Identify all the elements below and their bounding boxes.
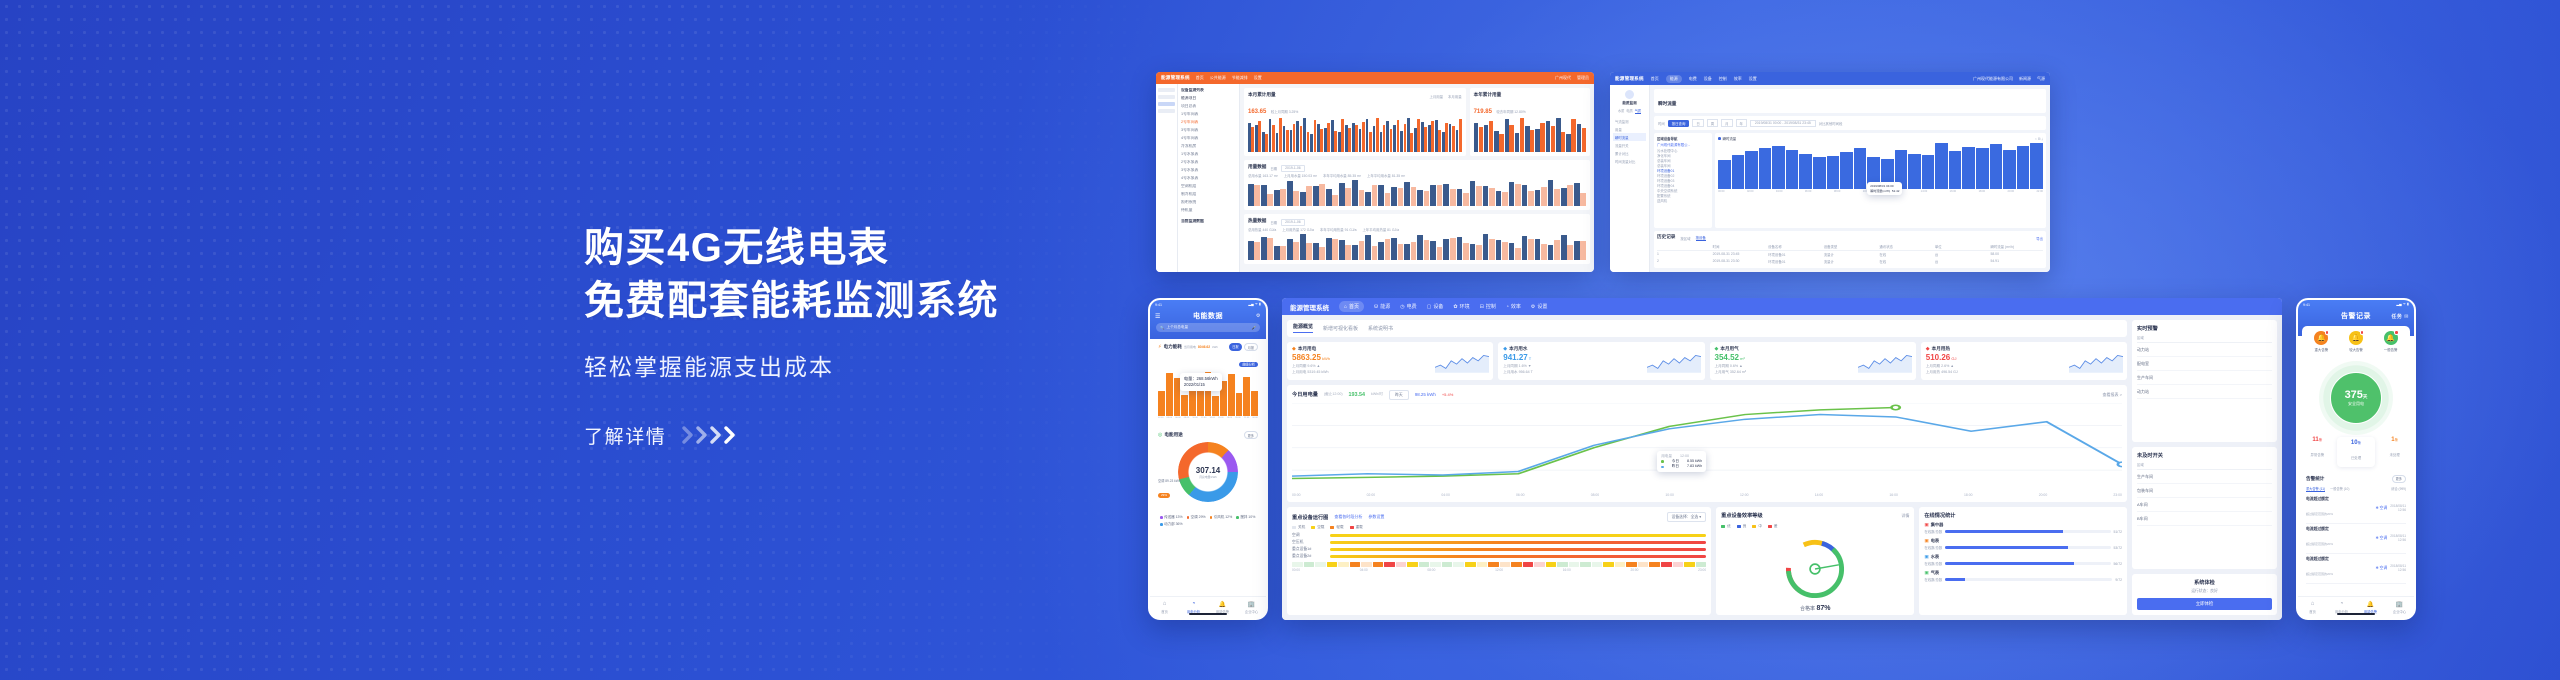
bar-secondary <box>1450 238 1456 260</box>
tab-0[interactable]: ⌂首页 <box>1150 597 1179 618</box>
panel-row-2[interactable]: A车间 <box>2137 498 2272 512</box>
promo-banner: 购买4G无线电表 免费配套能耗监测系统 轻松掌握能源支出成本 了解详情 能源管理… <box>0 0 2560 680</box>
alarm-row-2[interactable]: 电流超过额定超过额定范围的20%❄ 空调2018/08/1112:56 <box>2306 554 2406 584</box>
run-panel-title: 重点设备运行图 <box>1292 514 1328 521</box>
bar-secondary <box>1515 248 1521 260</box>
tree-item-list[interactable]: 项目总表1号车间表2号车间表3号车间表4号车间表冷冻机房1号水泵表2号水泵表3号… <box>1181 104 1236 213</box>
table-cell: 54.91 <box>1990 259 2043 264</box>
tablet-nav-fee-label: 电费 <box>1407 303 1417 310</box>
side-tab-water[interactable]: 水质 <box>1618 108 1624 114</box>
tab-3[interactable]: 🏢企业中心 <box>2385 597 2414 618</box>
nav-item-energy[interactable]: 能源 <box>1666 75 1682 83</box>
tree-item[interactable]: 冷冻机房 <box>1181 144 1236 149</box>
legend-label: 传送器 13% <box>1164 515 1182 520</box>
alarm-tab-general[interactable]: 一般告警 (10) <box>2330 486 2349 492</box>
tablet-right-column: 实时预警 区域 动力站配电室生产车间动力站 未及时开关 区域 生产车间包装车间A… <box>2132 315 2282 620</box>
tablet-main-column: 能源概览 新增可视化看板 系统说明书 ◆本月用电5863.25 kWh上月同期 … <box>1282 315 2132 620</box>
nav-item-home[interactable]: 首页 <box>1651 76 1659 82</box>
bar-group <box>1378 180 1390 206</box>
region-tree-node[interactable]: 送风机 <box>1657 198 1709 203</box>
timeline-segment <box>1292 562 1303 567</box>
tree-item[interactable]: 制冷机组 <box>1181 192 1236 197</box>
bar-group <box>1317 118 1323 152</box>
bar-hourly-energy <box>1158 391 1165 416</box>
tablet-nav-home[interactable]: ⌂首页 <box>1339 301 1364 312</box>
gauge-value: 87% <box>1816 605 1830 612</box>
rail-item[interactable] <box>1158 95 1175 99</box>
curve-analysis-button[interactable]: 曲线分析 <box>1239 362 1258 367</box>
alarm-row-0[interactable]: 电流超过额定超过额定范围的20%❄ 空调2018/08/1112:56 <box>2306 494 2406 524</box>
toolbar-btn-week[interactable]: 周 <box>1707 119 1718 127</box>
menu-item-home[interactable]: 首页 <box>1196 75 1204 81</box>
bar-primary <box>1404 182 1410 206</box>
alert-label-0: 重大告警 <box>2304 347 2339 352</box>
tree-item[interactable]: 照明系统 <box>1181 200 1236 205</box>
monthly-usage-chart <box>1248 118 1462 152</box>
panel-row-2[interactable]: 生产车间 <box>2137 371 2272 385</box>
timeline-segment <box>1569 562 1580 567</box>
bar-hourly-energy <box>1212 396 1219 416</box>
timeline-segment <box>1327 562 1338 567</box>
bar-group <box>1908 143 1921 189</box>
status-bar: 9:41 ▂▄ ᯤ ▮ <box>1150 300 1266 309</box>
bar-group <box>1393 118 1399 152</box>
bar-primary <box>1404 244 1410 260</box>
alert-type-2[interactable]: 🔔一般告警 <box>2373 331 2408 352</box>
bar-primary <box>1300 234 1306 260</box>
bar-secondary <box>1476 186 1482 206</box>
side-nav-item[interactable]: 用量 <box>1613 125 1646 133</box>
alert-type-0[interactable]: 🔔重大告警 <box>2304 331 2339 352</box>
bar-secondary <box>1345 188 1351 206</box>
alarm-more-button[interactable]: 更多 <box>2392 475 2406 483</box>
legend-swatch <box>1330 526 1334 529</box>
task-link[interactable]: 任务 ✉ <box>2391 313 2409 320</box>
alarm-stats-title: 告警统计 <box>2306 476 2324 482</box>
alarm-time-2: 2018/08/1112:56 <box>2390 564 2406 573</box>
panel-row-3[interactable]: 动力站 <box>2137 385 2272 399</box>
bar-this-month <box>1431 121 1434 152</box>
run-bar-1 <box>1330 541 1706 544</box>
axis-tick: 23:00 <box>1698 568 1706 572</box>
bar-this-month <box>1410 133 1413 152</box>
online-icon-0: ▣ <box>1924 522 1928 528</box>
bar-secondary <box>1528 239 1534 260</box>
bar-this-month <box>1376 118 1379 152</box>
bar-primary <box>1365 192 1371 206</box>
alert-label-2: 一般告警 <box>2373 347 2408 352</box>
bar-secondary <box>1554 240 1560 260</box>
bar-group <box>1248 234 1260 260</box>
side-tab-electric[interactable]: 电质 <box>1626 108 1632 114</box>
header-right-group: 广州现代 管理员 <box>1555 75 1589 81</box>
bar-last-month <box>1484 125 1488 152</box>
chevron-right-icon <box>682 426 737 444</box>
tree-item[interactable]: 4号水泵表 <box>1181 176 1236 181</box>
rail-item[interactable] <box>1158 88 1175 92</box>
side-nav-item[interactable]: 时间流量对比 <box>1613 157 1646 165</box>
task-label: 任务 <box>2391 314 2402 320</box>
toolbar-btn-month[interactable]: 月 <box>1721 119 1732 127</box>
online-track-3 <box>1945 578 2112 580</box>
toolbar-btn-year[interactable]: 年 <box>1736 119 1747 127</box>
tooltip-row1-name: 昨日 <box>1672 464 1679 469</box>
bar-secondary <box>1332 239 1338 260</box>
legend-item: 传送器 13% <box>1160 515 1183 520</box>
alarm-tab-major[interactable]: 重大告警 (11) <box>2306 486 2325 492</box>
rail-item-active[interactable] <box>1158 102 1175 106</box>
tab-daily-report[interactable]: 日报 <box>1229 343 1241 351</box>
legend-item: 优 <box>1721 524 1731 529</box>
water-usage-chart <box>1248 180 1586 206</box>
alarm-sub-1: 超过额定范围的20% <box>2306 542 2333 546</box>
status-icons: ▂▄ ᯤ ▮ <box>1248 302 1261 307</box>
orange-icon-rail[interactable] <box>1156 84 1178 272</box>
table-cell: 58.00 <box>1990 252 2043 257</box>
alarm-row-left-0: 电流超过额定超过额定范围的20% <box>2306 497 2372 520</box>
side-tab-gas[interactable]: 气质 <box>1635 108 1641 114</box>
bar-instant-flow <box>1854 148 1867 189</box>
table-header-cell: 单位 <box>1935 244 1988 249</box>
desktop-dashboard-blue[interactable]: 能源管理系统 首页 能源 电费 设备 控制 效率 设置 广州现代能源有限公司 新… <box>1610 72 2050 272</box>
header-user-label[interactable]: 管理员 <box>1577 75 1589 81</box>
bar-last-month <box>1494 131 1498 152</box>
online-row-body: 在线数/总数51/72 <box>1924 529 2122 534</box>
kpi-icon-3: ◆ <box>1926 346 1930 352</box>
bar-primary <box>1522 236 1528 260</box>
bar-group <box>1421 118 1427 152</box>
bar-secondary <box>1541 187 1547 206</box>
untimely-rows: 生产车间包装车间A车间B车间 <box>2137 470 2272 526</box>
timeline-segment <box>1638 562 1649 567</box>
bar-this-month <box>1258 121 1261 152</box>
bar-group <box>1430 180 1442 206</box>
kpi-card-row: ◆本月用电5863.25 kWh上月同期 9.6% ▲上月用电 5319.45 … <box>1287 342 2127 380</box>
online-status-panel: 在线情况统计 ▣集中器在线数/总数51/72▣电表在线数/总数53/72▣水表在… <box>1919 507 2127 615</box>
bar-instant-flow <box>1718 160 1731 189</box>
bar-primary <box>1339 240 1345 260</box>
tablet-nav-energy[interactable]: ⛁能源 <box>1374 303 1390 310</box>
online-row-body: 在线数/总数9/72 <box>1924 577 2122 582</box>
bar-secondary <box>1437 247 1443 260</box>
tablet-nav-control[interactable]: ⊟控制 <box>1480 303 1496 310</box>
view-report-link[interactable]: 查看报表 > <box>2103 392 2122 398</box>
bar-this-month <box>1452 126 1455 152</box>
online-status-list: ▣集中器在线数/总数51/72▣电表在线数/总数53/72▣水表在线数/总数56… <box>1924 522 2122 582</box>
tab-manual[interactable]: 系统说明书 <box>1368 325 1393 332</box>
tree-item[interactable]: 4号车间表 <box>1181 136 1236 141</box>
bar-group <box>1248 180 1260 206</box>
tree-item[interactable]: 2号水泵表 <box>1181 160 1236 165</box>
tree-item[interactable]: 项目总表 <box>1181 104 1236 109</box>
bar-group <box>1352 180 1364 206</box>
line-series-今日 <box>1292 407 1896 478</box>
bar-group <box>1786 143 1799 189</box>
daily-range-select[interactable]: 昨天 <box>1389 390 1409 400</box>
tablet-nav-fee[interactable]: ◷电费 <box>1400 303 1416 310</box>
bar-secondary <box>1267 238 1273 260</box>
bar-this-month <box>1582 128 1586 152</box>
daily-usage-title: 今日用电量 <box>1292 391 1318 398</box>
alarm-tab-all[interactable]: 综合 (999) <box>2391 486 2406 492</box>
bar-group <box>1922 143 1935 189</box>
desktop-dashboard-orange[interactable]: 能源管理系统 首页 公共能源 节能减排 设置 广州现代 管理员 设备监测列表 能… <box>1156 72 1594 272</box>
subtitle: 轻松掌握能源支出成本 <box>584 348 999 382</box>
axis-tick: 06:00 <box>1516 493 1525 497</box>
table-header-cell: 通讯状态 <box>1879 244 1932 249</box>
tablet-nav-efficiency[interactable]: ◔效率 <box>1506 303 1521 310</box>
system-check-button[interactable]: 立即体检 <box>2137 598 2272 610</box>
alarm-row-1[interactable]: 电流超过额定超过额定范围的20%❄ 空调2018/08/1112:56 <box>2306 524 2406 554</box>
bar-primary <box>1287 239 1293 260</box>
bar-primary <box>1457 237 1463 260</box>
tab-0[interactable]: ⌂首页 <box>2298 597 2327 618</box>
daily-usage-axis: 00:0002:0004:0006:0008:0010:0012:0014:00… <box>1292 493 2122 497</box>
kpi-icon-2: ◆ <box>1715 346 1719 352</box>
kpi-card-0: ◆本月用电5863.25 kWh上月同期 9.6% ▲上月用电 5319.45 … <box>1287 342 1493 380</box>
bar-group <box>1339 234 1351 260</box>
energy-side-nav[interactable]: 能质监测 水质 电质 气质 气流监测用量瞬时流量流量开关累计对比时间流量对比 <box>1610 85 1650 272</box>
bar-this-month <box>1509 125 1513 152</box>
bar-secondary <box>1411 242 1417 260</box>
axis-tick: 20:00 <box>2039 493 2048 497</box>
table-header-cell: 时间 <box>1713 244 1766 249</box>
tab-monthly-report[interactable]: 月报 <box>1244 343 1258 351</box>
bar-instant-flow <box>1813 157 1826 189</box>
alert-type-row[interactable]: 🔔重大告警🔔较大告警🔔一般告警 <box>2302 326 2410 357</box>
bar-group <box>1962 143 1975 189</box>
bar-primary <box>1417 190 1423 206</box>
panel-row-0[interactable]: 生产车间 <box>2137 470 2272 484</box>
side-nav-item[interactable]: 流量开关 <box>1613 141 1646 149</box>
bar-this-month <box>1390 129 1393 152</box>
efficiency-detail-link[interactable]: 详情 <box>1901 513 1909 519</box>
mobile-alarm-records-app[interactable]: 9:41 ▂▄ ᯤ ▮ 告警记录 任务 ✉ 🔔重大告警🔔较大告警🔔一般告警 37… <box>2296 298 2416 620</box>
tablet-top-nav[interactable]: 能源管理系统 ⌂首页 ⛁能源 ◷电费 ▢设备 ✿环境 ⊟控制 ◔效率 ⚙设置 <box>1282 298 2282 315</box>
bar-group <box>1484 118 1493 152</box>
bar-group <box>2003 143 2016 189</box>
axis-tick: 02:00 <box>1747 190 1754 193</box>
history-title: 历史记录 <box>1657 234 1675 240</box>
tab-new-dashboard[interactable]: 新增可视化看板 <box>1323 325 1358 332</box>
bar-this-month <box>1459 119 1462 152</box>
axis-tick: 18:00 <box>1227 417 1232 419</box>
alarm-sub-0: 超过额定范围的20% <box>2306 512 2333 516</box>
orange-app-header: 能源管理系统 首页 公共能源 节能减排 设置 广州现代 管理员 <box>1156 72 1594 84</box>
kpi-sparkline-3 <box>2069 353 2123 373</box>
menu-item-settings[interactable]: 设置 <box>1254 75 1262 81</box>
kpi-unit-2: m³ <box>1739 356 1745 361</box>
series-color-swatch <box>1718 137 1721 140</box>
panel-row-3[interactable]: B车间 <box>2137 512 2272 526</box>
tree-item[interactable]: 待机量 <box>1181 208 1236 213</box>
tree-item[interactable]: 空调机组 <box>1181 184 1236 189</box>
power-consumption-card: ⚡ 电力能耗 当月用电 8046.62 kWh 日报 月报 曲线分析 02:00… <box>1154 339 1262 423</box>
tooltip-energy-value: 电量：268.56kWh <box>1184 376 1218 382</box>
header-news-link[interactable]: 新闻源 <box>2019 76 2031 82</box>
bar-group <box>1326 234 1338 260</box>
online-track-0 <box>1945 530 2110 532</box>
run-panel-link1[interactable]: 查看各时段分析 <box>1334 514 1362 520</box>
rail-item[interactable] <box>1158 109 1175 113</box>
bar-group <box>1300 234 1312 260</box>
water-date-input[interactable]: 2019-1-06 <box>1281 165 1304 172</box>
heat-date-input[interactable]: 2019-1-06 <box>1281 219 1304 226</box>
overview-tabs[interactable]: 能源概览 新增可视化看板 系统说明书 <box>1287 320 2127 337</box>
run-panel-link2[interactable]: 参数设置 <box>1368 514 1384 520</box>
toolbar-time-label: 时间 <box>1658 121 1665 126</box>
nav-item-fee[interactable]: 电费 <box>1689 76 1697 82</box>
bar-primary <box>1535 239 1541 260</box>
tablet-nav-settings[interactable]: ⚙设置 <box>1531 303 1548 310</box>
search-placeholder: 上个月总电量 <box>1166 325 1188 330</box>
bar-group <box>1261 180 1273 206</box>
side-nav-item[interactable]: 瞬时流量 <box>1613 133 1646 141</box>
hamburger-menu-icon[interactable]: ☰ <box>1155 313 1161 320</box>
timeline-segment <box>1673 562 1684 567</box>
tablet-nav-environment[interactable]: ✿环境 <box>1453 303 1469 310</box>
bell-glyph-1: 🔔 <box>2352 334 2361 342</box>
tree-item[interactable]: 1号水泵表 <box>1181 152 1236 157</box>
tooltip-header: 用电量 <box>1661 454 1672 459</box>
bar-secondary <box>1254 185 1260 206</box>
side-nav-item[interactable]: 累计对比 <box>1613 149 1646 157</box>
tablet-nav-device[interactable]: ▢设备 <box>1427 303 1444 310</box>
chart-toolbox-icons[interactable]: ⌁ ⊞ ⤓ <box>2035 137 2043 141</box>
bar-secondary <box>1554 189 1560 206</box>
run-bar-0 <box>1330 534 1706 537</box>
nav-item-control[interactable]: 控制 <box>1719 76 1727 82</box>
toolbar-date-range[interactable]: 2019/08/31 00:00 - 2019/08/31 23:45 <box>1750 120 1816 127</box>
panel-row-1[interactable]: 包装车间 <box>2137 484 2272 498</box>
bar-secondary <box>1528 191 1534 206</box>
donut-center-value: 307.14 <box>1196 466 1220 475</box>
tree-item[interactable]: 3号水泵表 <box>1181 168 1236 173</box>
tab-energy-overview[interactable]: 能源概览 <box>1293 323 1313 333</box>
nav-item-device[interactable]: 设备 <box>1704 76 1712 82</box>
bar-instant-flow <box>1840 152 1853 189</box>
efficiency-legend: 优良中差 <box>1721 524 1909 529</box>
alarm-row-list[interactable]: 电流超过额定超过额定范围的20%❄ 空调2018/08/1112:56电流超过额… <box>2306 494 2406 584</box>
bar-this-month <box>1334 131 1337 152</box>
history-export-button[interactable]: 导出 <box>2036 236 2043 241</box>
online-row-2: ▣水表在线数/总数56/72 <box>1924 554 2122 566</box>
legend-last-month: 上月用量 <box>1429 94 1443 99</box>
nav-item-efficiency[interactable]: 效率 <box>1734 76 1742 82</box>
bar-hourly-energy <box>1243 377 1250 416</box>
history-tab-region[interactable]: 按区域 <box>1680 236 1690 241</box>
legend-item: 空调 29% <box>1187 515 1206 520</box>
kpi-name-2: 本月用气 <box>1720 346 1738 352</box>
panel-row-1[interactable]: 配电室 <box>2137 357 2272 371</box>
query-toolbar[interactable]: 时间 按日查询 日 周 月 年 2019/08/31 00:00 - 2019/… <box>1654 116 2046 130</box>
toolbar-btn-day[interactable]: 日 <box>1692 119 1703 127</box>
daily-usage-panel: 今日用电量 (截止12:00) 193.54 kWh/时 昨天 98.25 kW… <box>1287 385 2127 503</box>
toolbar-active-mode[interactable]: 按日查询 <box>1668 120 1690 127</box>
water-date-label: 日期 <box>1270 166 1277 171</box>
bar-group <box>1338 118 1344 152</box>
bar-group <box>1483 180 1495 206</box>
table-row: 22019-08-31 23:30环境设备01流量计在线台54.91 <box>1657 258 2043 265</box>
stat-2: 1条未处理 <box>2375 437 2414 467</box>
region-tree-nodes[interactable]: 污水处理中心 净化车间 总装车间 总装车间 环境设备01 环境设备02 环境设备… <box>1657 148 1709 203</box>
table-cell: 1 <box>1657 252 1710 257</box>
blue-main-area: 瞬时流量 时间 按日查询 日 周 月 年 2019/08/31 00:00 - … <box>1650 85 2050 272</box>
nav-icon-1: ◔ <box>1192 601 1196 607</box>
device-select-value[interactable]: 全选 <box>1691 515 1699 519</box>
tree-item[interactable]: 1号车间表 <box>1181 112 1236 117</box>
legend-item: 引风机 12% <box>1210 515 1233 520</box>
legend-swatch <box>1350 526 1354 529</box>
bar-secondary <box>1359 190 1365 206</box>
menu-item-public-energy[interactable]: 公共能源 <box>1210 75 1226 81</box>
alarm-stats-row: 11条异常告警10条已处理1条未处理 <box>2298 437 2414 467</box>
axis-tick: 12:00 <box>1201 417 1206 419</box>
bar-secondary <box>1411 187 1417 206</box>
region-tree-panel[interactable]: 区域设备导航 广州现代能源有限公... 污水处理中心 净化车间 总装车间 总装车… <box>1654 133 1712 228</box>
bar-group <box>1772 143 1785 189</box>
water-stat-1: 上月用水量 150.03 m³ <box>1284 173 1317 178</box>
app-logo-label: 能源管理系统 <box>1161 75 1190 81</box>
region-tree-root[interactable]: 广州现代能源有限公... <box>1657 142 1709 147</box>
online-name-3: 气表 <box>1931 570 1939 576</box>
bar-group <box>1331 118 1337 152</box>
timeline-segment <box>1684 562 1695 567</box>
bar-group <box>1442 118 1448 152</box>
bar-group <box>1483 234 1495 260</box>
axis-tick: 22:00 <box>2036 190 2043 193</box>
side-nav-item-list[interactable]: 气流监测用量瞬时流量流量开关累计对比时间流量对比 <box>1613 117 1646 165</box>
tab-3[interactable]: 🏢企业中心 <box>1237 597 1266 618</box>
tree-item[interactable]: 3号车间表 <box>1181 128 1236 133</box>
axis-tick: 12:00 <box>1740 493 1749 497</box>
menu-item-saving[interactable]: 节能减排 <box>1232 75 1248 81</box>
online-sub-1: 在线数/总数 <box>1924 545 1942 550</box>
panel-row-0[interactable]: 动力站 <box>2137 343 2272 357</box>
bar-secondary <box>1280 189 1286 206</box>
daily-usage-line-svg <box>1292 403 2122 493</box>
nav-icon-0: ⌂ <box>1163 601 1167 607</box>
alert-type-1[interactable]: 🔔较大告警 <box>2339 331 2374 352</box>
search-input[interactable]: 🔍 上个月总电量 🎤 <box>1156 323 1260 332</box>
history-tab-device[interactable]: 按设备 <box>1696 235 1706 241</box>
legend-swatch <box>1737 525 1741 528</box>
run-panel-rows: 空调空压机重点设备1#重点设备2# <box>1292 533 1706 559</box>
side-nav-item[interactable]: 气流监测 <box>1613 117 1646 125</box>
legend-item: 轻载 <box>1330 525 1343 530</box>
learn-more-button[interactable]: 了解详情 <box>584 422 999 449</box>
microphone-icon[interactable]: 🎤 <box>1252 326 1256 330</box>
yearly-usage-value: 719.85 <box>1474 109 1492 115</box>
bar-secondary <box>1319 184 1325 206</box>
header-gas-link[interactable]: 气源 <box>2037 76 2045 82</box>
run-device-name-3: 重点设备2# <box>1292 554 1326 559</box>
more-button[interactable]: 更多 <box>1244 431 1258 439</box>
tablet-nav-efficiency-label: 效率 <box>1511 303 1521 310</box>
control-icon: ⊟ <box>1480 304 1484 310</box>
table-cell: 2019-08-31 23:45 <box>1713 252 1766 257</box>
tablet-energy-overview[interactable]: 能源管理系统 ⌂首页 ⛁能源 ◷电费 ▢设备 ✿环境 ⊟控制 ◔效率 ⚙设置 能… <box>1282 298 2282 620</box>
gear-icon[interactable]: ⚙ <box>1256 313 1261 319</box>
device-tree-panel[interactable]: 设备监测列表 能源项目 项目总表1号车间表2号车间表3号车间表4号车间表冷冻机房… <box>1178 84 1240 272</box>
tree-item[interactable]: 2号车间表 <box>1181 120 1236 125</box>
mobile-energy-data-app[interactable]: 9:41 ▂▄ ᯤ ▮ ☰ 电能数据 ⚙ 🔍 上个月总电量 🎤 ⚡ 电力能耗 <box>1148 298 1268 620</box>
tree-group: 能源项目 <box>1181 96 1236 101</box>
toolbar-compare-checkbox[interactable]: 对比其他时间段 <box>1819 121 1843 126</box>
bar-secondary <box>1319 247 1325 260</box>
alarm-row-left-2: 电流超过额定超过额定范围的20% <box>2306 557 2372 580</box>
nav-item-settings[interactable]: 设置 <box>1749 76 1757 82</box>
